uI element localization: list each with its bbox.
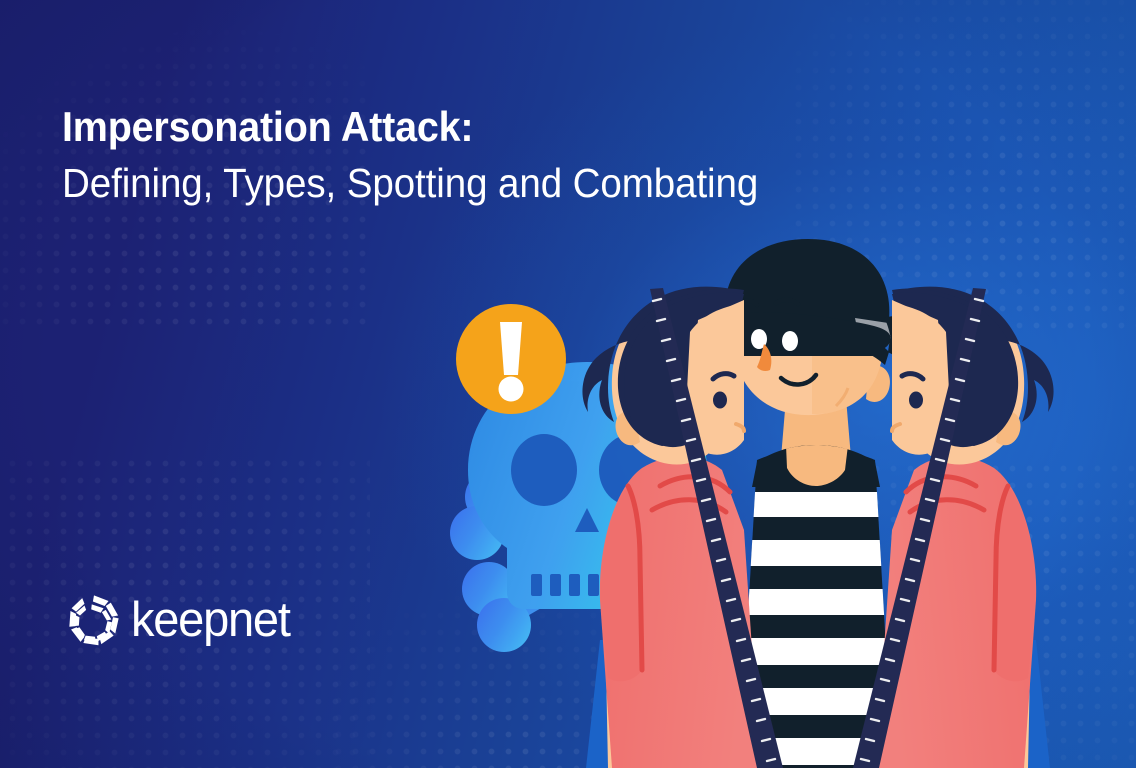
left-eye (713, 392, 727, 409)
thief-eye-right (782, 331, 798, 351)
headline-secondary: Defining, Types, Spotting and Combating (62, 160, 908, 206)
banner-image: Impersonation Attack: Defining, Types, S… (0, 0, 1136, 768)
right-eye (909, 392, 923, 409)
keepnet-spiral-octagon-logo-icon (66, 592, 122, 648)
brand-name: keepnet (131, 596, 290, 645)
brand-logo[interactable]: keepnet (66, 592, 296, 648)
headline-block: Impersonation Attack: Defining, Types, S… (62, 104, 962, 206)
headline-primary: Impersonation Attack: (62, 104, 908, 150)
warning-exclamation-badge (456, 304, 566, 414)
